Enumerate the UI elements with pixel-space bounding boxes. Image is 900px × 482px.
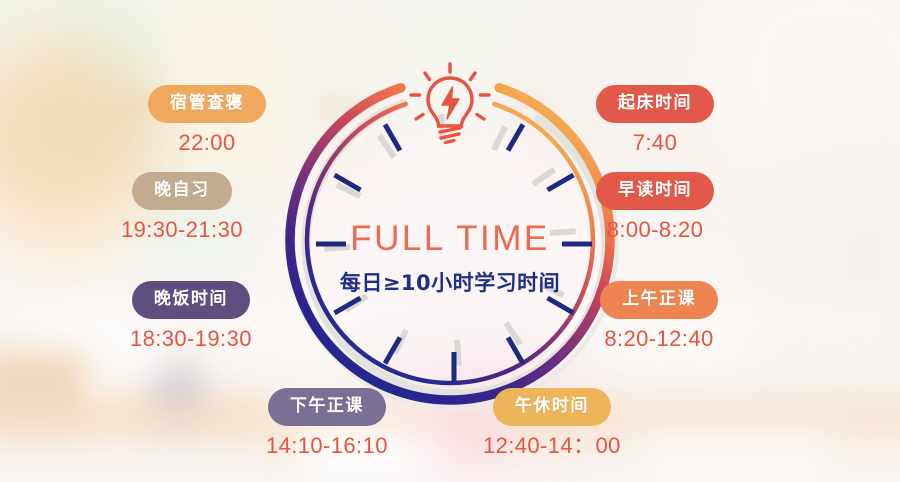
schedule-item-wan-zixi[interactable]: 晚自习 19:30-21:30 [121, 172, 243, 241]
schedule-time-text: 18:30-19:30 [130, 328, 252, 350]
schedule-item-sugan-chaqin[interactable]: 宿管查寝 22:00 [148, 85, 266, 154]
schedule-label-pill: 宿管查寝 [148, 85, 266, 123]
schedule-item-wanfan-shijian[interactable]: 晚饭时间 18:30-19:30 [130, 281, 252, 350]
schedule-item-xiawu-zhengke[interactable]: 下午正课 14:10-16:10 [266, 388, 388, 457]
schedule-item-wuxiu-shijian[interactable]: 午休时间 12:40-14：00 [483, 388, 621, 457]
schedule-time-text: 8:00-8:20 [607, 219, 704, 241]
schedule-label-pill: 午休时间 [493, 388, 611, 426]
schedule-time-text: 22:00 [178, 132, 235, 154]
clock-tick-shadows [324, 114, 575, 365]
schedule-item-shangwu-zhengke[interactable]: 上午正课 8:20-12:40 [600, 281, 718, 350]
lightbulb-icon [404, 62, 496, 146]
schedule-item-qichuang-shijian[interactable]: 起床时间 7:40 [596, 85, 714, 154]
schedule-label-pill: 晚自习 [132, 172, 232, 210]
schedule-label-pill: 早读时间 [596, 172, 714, 210]
schedule-label-pill: 上午正课 [600, 281, 718, 319]
schedule-label-pill: 晚饭时间 [132, 281, 250, 319]
schedule-item-zaodu-shijian[interactable]: 早读时间 8:00-8:20 [596, 172, 714, 241]
infographic-canvas: FULL TIME 每日≥10小时学习时间 宿管查寝 22:00 晚自习 19:… [0, 0, 900, 482]
schedule-label-pill: 起床时间 [596, 85, 714, 123]
schedule-label-pill: 下午正课 [268, 388, 386, 426]
schedule-time-text: 8:20-12:40 [604, 328, 713, 350]
schedule-time-text: 12:40-14：00 [483, 435, 621, 457]
schedule-time-text: 7:40 [633, 132, 677, 154]
schedule-time-text: 14:10-16:10 [266, 435, 388, 457]
schedule-time-text: 19:30-21:30 [121, 219, 243, 241]
